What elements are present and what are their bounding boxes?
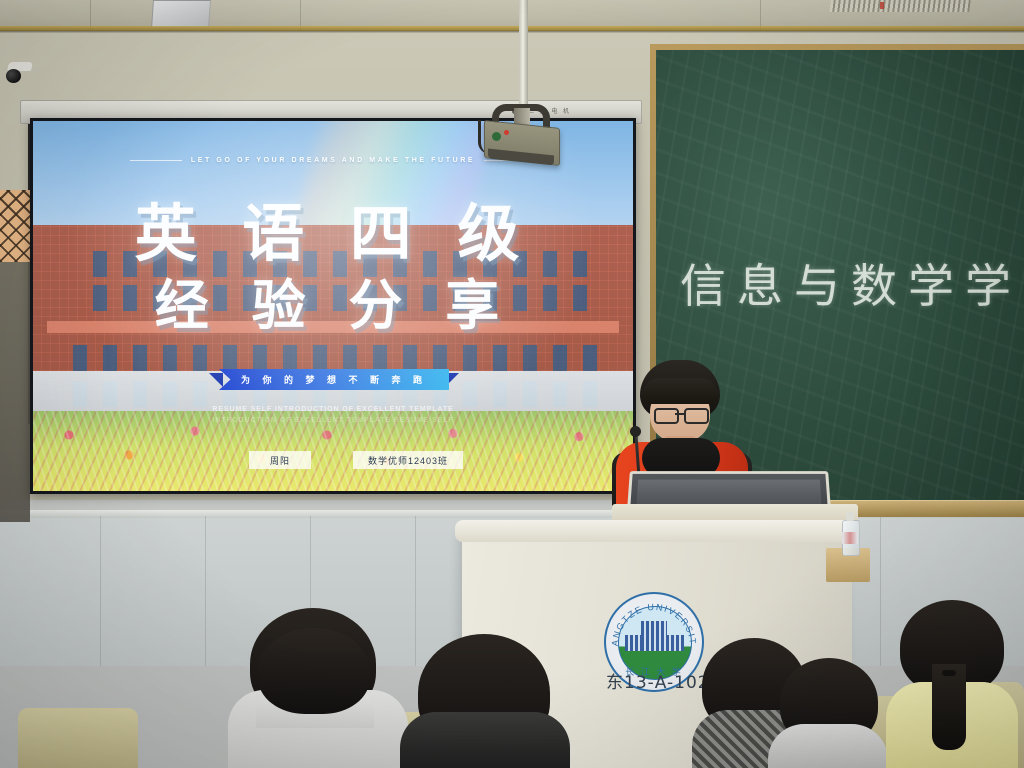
microphone-head-icon [630, 426, 641, 437]
svg-text:YANGTZE UNIVERSITY: YANGTZE UNIVERSITY [606, 594, 698, 646]
slide-presenter-class: 数学优师12403班 [353, 451, 463, 469]
bottle-cap [846, 512, 854, 521]
side-door[interactable] [0, 262, 30, 522]
slide-tagline-text: LET GO OF YOUR DREAMS AND MAKE THE FUTUR… [191, 157, 475, 164]
slide-title-line-2: 经 验 分 享 [33, 261, 633, 340]
projector-lens-icon [492, 132, 501, 141]
ribbon-text: 为 你 的 梦 想 不 断 奔 跑 [241, 373, 427, 386]
classroom-scene: 三 菱 电 机 LET GO OF YOUR DREAMS AND MAKE T… [0, 0, 1024, 768]
water-bottle [842, 512, 858, 554]
lattice-panel [0, 190, 32, 262]
audience-member [886, 590, 1018, 768]
wainscot-seam [205, 516, 206, 666]
glasses-bridge [675, 413, 684, 415]
projection-screen: LET GO OF YOUR DREAMS AND MAKE THE FUTUR… [30, 118, 636, 494]
audience-top [400, 712, 570, 768]
presenter-fringe [642, 378, 718, 404]
audience-member [768, 642, 888, 768]
slide-presenter-name: 周阳 [249, 451, 311, 469]
building-window-row [73, 345, 613, 371]
camera-lens-icon [6, 69, 21, 83]
wall-trim-rail [0, 26, 1024, 31]
audience-member [400, 608, 570, 768]
glasses-icon [654, 408, 679, 424]
wainscot-seam [100, 516, 101, 666]
audience-ponytail [932, 664, 966, 750]
lectern-top-surface [455, 520, 859, 542]
audience-member [228, 598, 408, 768]
slide-subtitle-en-2: INTRODUCTION OF EXCELLENT TEMPLATE RESUM… [33, 417, 633, 424]
audience-hoodie [768, 724, 888, 768]
projector-mount-pole [519, 0, 528, 110]
vent-indicator-dot [880, 2, 884, 9]
projector-power-led-icon [504, 130, 509, 135]
slide-ribbon-banner: 为 你 的 梦 想 不 断 奔 跑 [219, 369, 449, 390]
slide-subtitle-en-1: RESUME SELF INTRODUCTION OF EXCELLENT TE… [33, 406, 633, 413]
tagline-rule-left [130, 160, 182, 161]
slide-title-line-1: 英 语 四 级 [33, 183, 633, 273]
seat[interactable] [18, 708, 138, 768]
ceiling-light-fixture [151, 0, 211, 28]
audience-hair [258, 628, 370, 714]
security-camera [6, 62, 32, 82]
hair-tie [942, 670, 956, 676]
blackboard-text: 信息与数学学 [680, 250, 1022, 316]
glasses-icon [684, 408, 709, 424]
bottle-label [842, 532, 858, 544]
ceiling-vent [829, 0, 971, 12]
